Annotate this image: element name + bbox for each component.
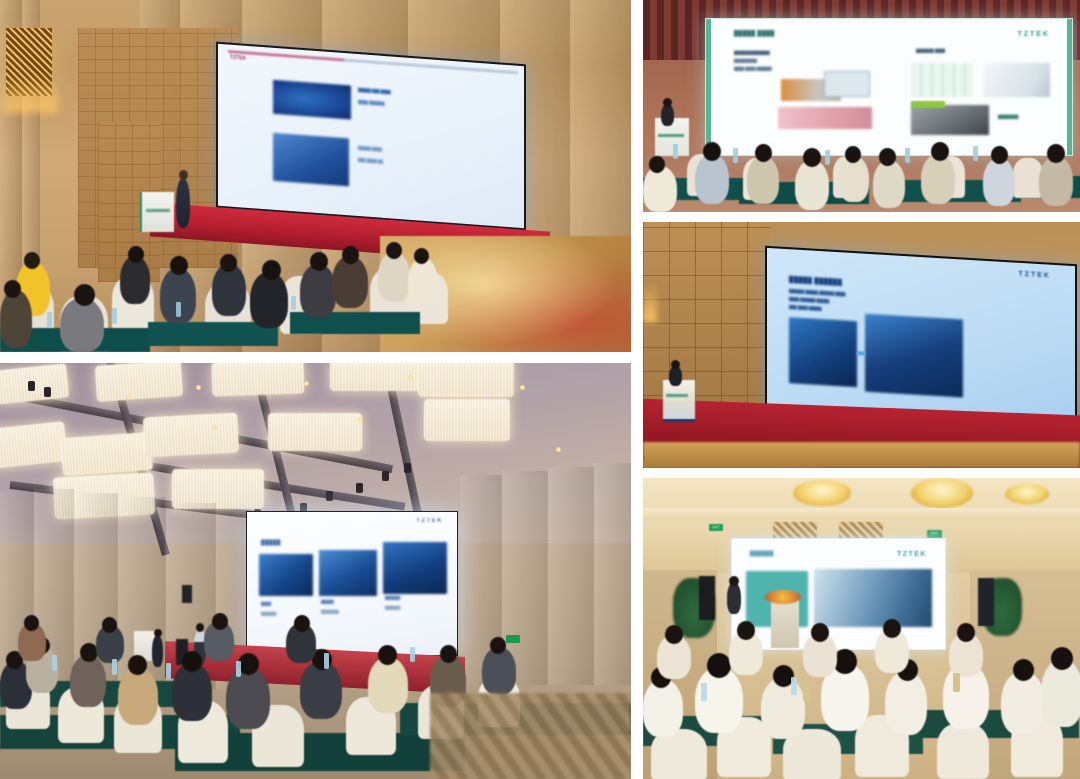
slide-body-3: █████ ████ xyxy=(358,146,382,154)
slide-caption-2: █████ xyxy=(321,600,334,606)
photo-panel-right-top: █████ ████ TZTEK ██████████████ ████████… xyxy=(643,0,1080,212)
presentation-screen: TZTEK █████ ███ ████ ████ ██████ █████ █… xyxy=(216,42,526,231)
slide-table-left xyxy=(824,71,870,97)
slide-title: █████ xyxy=(261,540,281,546)
chandelier-right xyxy=(911,478,973,508)
slide-logo: TZTEK xyxy=(1017,31,1050,38)
slide-body-1: █████ ███ ████ xyxy=(358,88,391,96)
photo-panel-top-left: TZTEK █████ ███ ████ ████ ██████ █████ █… xyxy=(0,0,631,352)
presentation-screen: TZTEK █████ ██████ ██████ █████ ██████ █… xyxy=(765,246,1077,425)
speaker-head xyxy=(179,170,188,180)
audience xyxy=(643,619,1080,779)
slide-caption-3: ██████ xyxy=(385,596,400,602)
crystal-chandelier xyxy=(143,413,239,458)
slide-body-4: ███ ████ ██ xyxy=(358,158,383,166)
slide-caption-right: ████████ xyxy=(998,115,1018,121)
slide-caption-1: ████ xyxy=(261,602,271,608)
speaker-head xyxy=(729,576,739,586)
slide-logo: TZTEK xyxy=(416,518,443,524)
slide-logo: TZTEK xyxy=(897,551,927,558)
slide-photo-2 xyxy=(273,133,349,187)
exit-sign-left: EXIT xyxy=(709,524,723,531)
slide-body-left: ██████████████ xyxy=(734,51,770,57)
speaker xyxy=(669,366,682,386)
slide-flowchart xyxy=(911,63,973,97)
slide-body-2: ████ ██████ █████ xyxy=(789,297,829,305)
slide-logo: TZTEK xyxy=(1018,271,1051,280)
slide-body-3: ███ ████ █████ xyxy=(789,305,822,313)
slide-photo-1 xyxy=(259,554,313,596)
crystal-chandelier xyxy=(0,421,68,469)
slide-title: █████ ██████ xyxy=(789,277,842,286)
slide-photo-right xyxy=(865,314,963,398)
audience xyxy=(0,212,631,352)
slide-title: █████ ████ xyxy=(734,31,775,37)
lectern xyxy=(663,380,695,422)
photo-panel-bottom-left: TZTEK █████ ████ █████ ██████ ██████ ███… xyxy=(0,363,631,779)
slide-title: ██████ xyxy=(750,551,774,557)
crystal-chandelier xyxy=(95,363,183,402)
speaker xyxy=(727,582,741,614)
speaker-head xyxy=(663,98,672,107)
slide-logo: TZTEK xyxy=(230,55,246,62)
wall-uplight xyxy=(2,78,58,112)
photo-panel-right-bottom: EXIT EXIT ██████ TZTEK xyxy=(643,478,1080,779)
slide-body-3: ██████ xyxy=(385,606,400,612)
photo-panel-right-middle: TZTEK █████ ██████ ██████ █████ ██████ █… xyxy=(643,222,1080,468)
chandelier-far-right xyxy=(1005,484,1049,504)
slide-photo-1 xyxy=(273,80,351,120)
photo-collage: TZTEK █████ ███ ████ ████ ██████ █████ █… xyxy=(0,0,1080,779)
audience xyxy=(643,122,1080,212)
crystal-chandelier xyxy=(424,399,510,441)
slide-body-2: ████ ██████ xyxy=(358,100,384,108)
slide-body-right: ███████ ████ xyxy=(916,49,945,55)
crystal-chandelier xyxy=(211,363,304,397)
slide-photo-3 xyxy=(383,542,447,594)
crystal-chandelier xyxy=(418,363,514,397)
slide-photo-2 xyxy=(319,550,377,596)
slide-body-left-3: ████ ████ ██████ xyxy=(734,67,772,73)
slide-body-2: ███████ xyxy=(321,610,339,616)
crystal-chandelier xyxy=(61,432,153,476)
speaker-head xyxy=(671,360,680,369)
crystal-chandelier xyxy=(268,413,362,451)
slide-body-left-2: █████████ xyxy=(734,59,757,65)
chandelier-left xyxy=(793,480,851,506)
slide-body-1: ██████ xyxy=(261,612,276,618)
slide-photo-left xyxy=(789,317,857,387)
slide-chart-right xyxy=(984,63,1050,97)
exit-sign-right: EXIT xyxy=(927,530,942,538)
